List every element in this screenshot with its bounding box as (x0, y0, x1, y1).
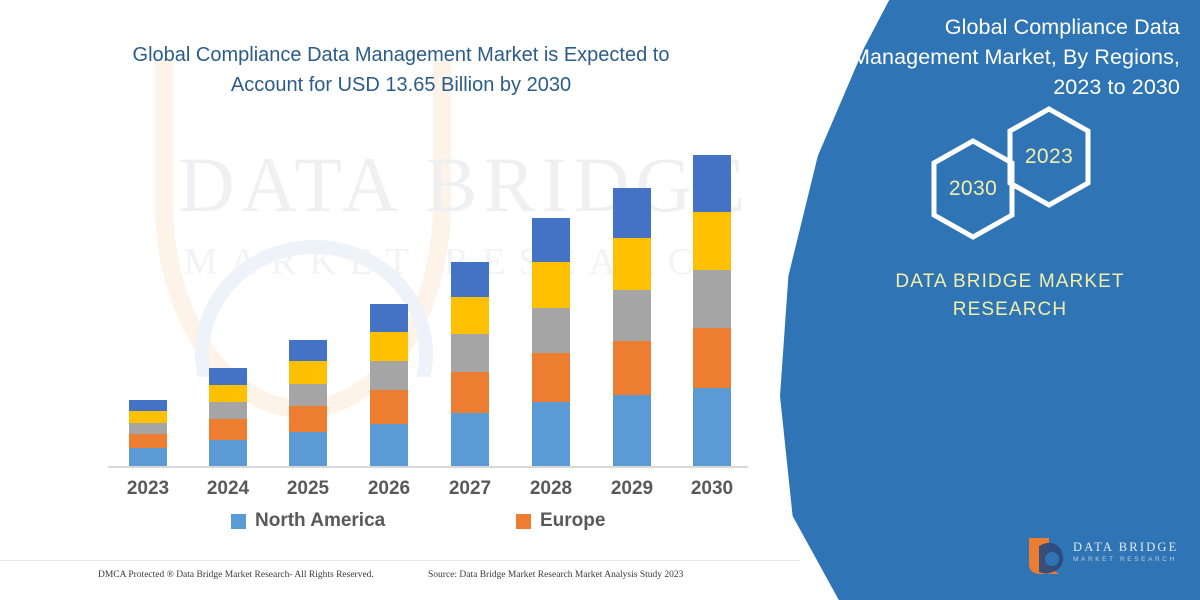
bar-segment-south-america-2030 (693, 212, 731, 270)
x-axis-label-2029: 2029 (597, 478, 667, 500)
bar-segment-south-america-2024 (209, 385, 247, 402)
bar-segment-north-america-2025 (289, 432, 327, 466)
bar-segment-asia-pacific-2029 (613, 290, 651, 341)
brand-line-1: DATA BRIDGE MARKET (840, 268, 1180, 296)
bar-segment-asia-pacific-2023 (129, 423, 167, 434)
bar-2023 (129, 400, 167, 466)
bar-segment-europe-2027 (451, 372, 489, 413)
bar-segment-north-america-2027 (451, 413, 489, 466)
legend-label: Europe (540, 510, 605, 532)
bar-segment-asia-pacific-2024 (209, 402, 247, 420)
bar-segment-europe-2030 (693, 328, 731, 388)
x-axis-line (108, 466, 748, 468)
bar-segment-south-america-2026 (370, 332, 408, 361)
x-axis-label-2026: 2026 (354, 478, 424, 500)
x-axis-label-2028: 2028 (516, 478, 586, 500)
bar-segment-south-america-2025 (289, 361, 327, 383)
chart-plot-area (96, 130, 756, 470)
legend-swatch-icon (516, 514, 531, 529)
bar-segment-middle-east-and-africa-2030 (693, 155, 731, 212)
bar-segment-asia-pacific-2025 (289, 384, 327, 407)
dbmr-logo-sub: MARKET RESEARCH (1073, 554, 1179, 566)
bar-segment-europe-2025 (289, 406, 327, 432)
bar-segment-europe-2024 (209, 419, 247, 439)
right-panel: Global Compliance Data Management Market… (780, 0, 1200, 600)
bar-segment-south-america-2028 (532, 262, 570, 308)
bar-segment-asia-pacific-2027 (451, 334, 489, 371)
bar-segment-europe-2029 (613, 341, 651, 395)
bar-segment-middle-east-and-africa-2023 (129, 400, 167, 411)
bar-segment-asia-pacific-2026 (370, 361, 408, 391)
bar-segment-europe-2026 (370, 390, 408, 423)
chart-title: Global Compliance Data Management Market… (96, 40, 706, 100)
footer-source: Source: Data Bridge Market Research Mark… (428, 570, 683, 580)
legend-item-north-america[interactable]: North America (231, 510, 385, 532)
footer-copyright: DMCA Protected ® Data Bridge Market Rese… (98, 570, 374, 580)
bar-2026 (370, 304, 408, 466)
bar-segment-europe-2023 (129, 434, 167, 448)
infographic-canvas: DATA BRIDGE MARKET RESEARCH Global Compl… (0, 0, 1200, 600)
bar-2027 (451, 262, 489, 466)
x-axis-label-2024: 2024 (193, 478, 263, 500)
bar-segment-middle-east-and-africa-2027 (451, 262, 489, 297)
hexagon-label-2030: 2030 (927, 136, 1019, 242)
bar-2030 (693, 155, 731, 466)
bar-segment-middle-east-and-africa-2025 (289, 340, 327, 361)
bar-segment-asia-pacific-2030 (693, 270, 731, 328)
brand-name: DATA BRIDGE MARKET RESEARCH (840, 268, 1180, 324)
bar-2028 (532, 218, 570, 466)
bar-2029 (613, 188, 651, 466)
brand-line-2: RESEARCH (840, 296, 1180, 324)
x-axis-label-2023: 2023 (113, 478, 183, 500)
bar-segment-middle-east-and-africa-2024 (209, 368, 247, 385)
panel-title-line-1: Global Compliance Data (850, 12, 1180, 42)
legend-swatch-icon (231, 514, 246, 529)
bar-segment-middle-east-and-africa-2029 (613, 188, 651, 238)
bar-segment-north-america-2030 (693, 388, 731, 466)
bar-segment-north-america-2029 (613, 395, 651, 466)
panel-title: Global Compliance Data Management Market… (850, 12, 1180, 102)
dbmr-logo-text: DATA BRIDGE MARKET RESEARCH (1073, 540, 1179, 566)
bar-segment-middle-east-and-africa-2028 (532, 218, 570, 262)
bar-segment-north-america-2028 (532, 402, 570, 466)
x-axis-labels: 20232024202520262027202820292030 (96, 478, 756, 506)
bar-2025 (289, 340, 327, 466)
dbmr-logo-mark (1025, 534, 1071, 578)
dbmr-logo-name: DATA BRIDGE (1073, 540, 1179, 554)
bar-segment-north-america-2023 (129, 448, 167, 466)
legend-item-europe[interactable]: Europe (516, 510, 605, 532)
x-axis-label-2030: 2030 (677, 478, 747, 500)
bar-segment-europe-2028 (532, 353, 570, 402)
hexagon-badge-2030: 2030 (927, 136, 1019, 242)
bar-segment-south-america-2027 (451, 297, 489, 334)
bar-2024 (209, 368, 247, 466)
bar-segment-north-america-2024 (209, 440, 247, 466)
bar-segment-middle-east-and-africa-2026 (370, 304, 408, 332)
bar-segment-asia-pacific-2028 (532, 308, 570, 353)
bar-segment-south-america-2023 (129, 411, 167, 422)
hexagon-badges: 2023 2030 (780, 98, 1200, 218)
panel-title-line-2: Management Market, By Regions, (850, 42, 1180, 72)
dbmr-logo: DATA BRIDGE MARKET RESEARCH (1025, 534, 1185, 582)
x-axis-label-2025: 2025 (273, 478, 343, 500)
legend-label: North America (255, 510, 385, 532)
footer-divider (0, 560, 800, 561)
bar-segment-north-america-2026 (370, 424, 408, 466)
bar-segment-south-america-2029 (613, 238, 651, 290)
chart-legend: North AmericaEurope (96, 510, 756, 544)
x-axis-label-2027: 2027 (435, 478, 505, 500)
